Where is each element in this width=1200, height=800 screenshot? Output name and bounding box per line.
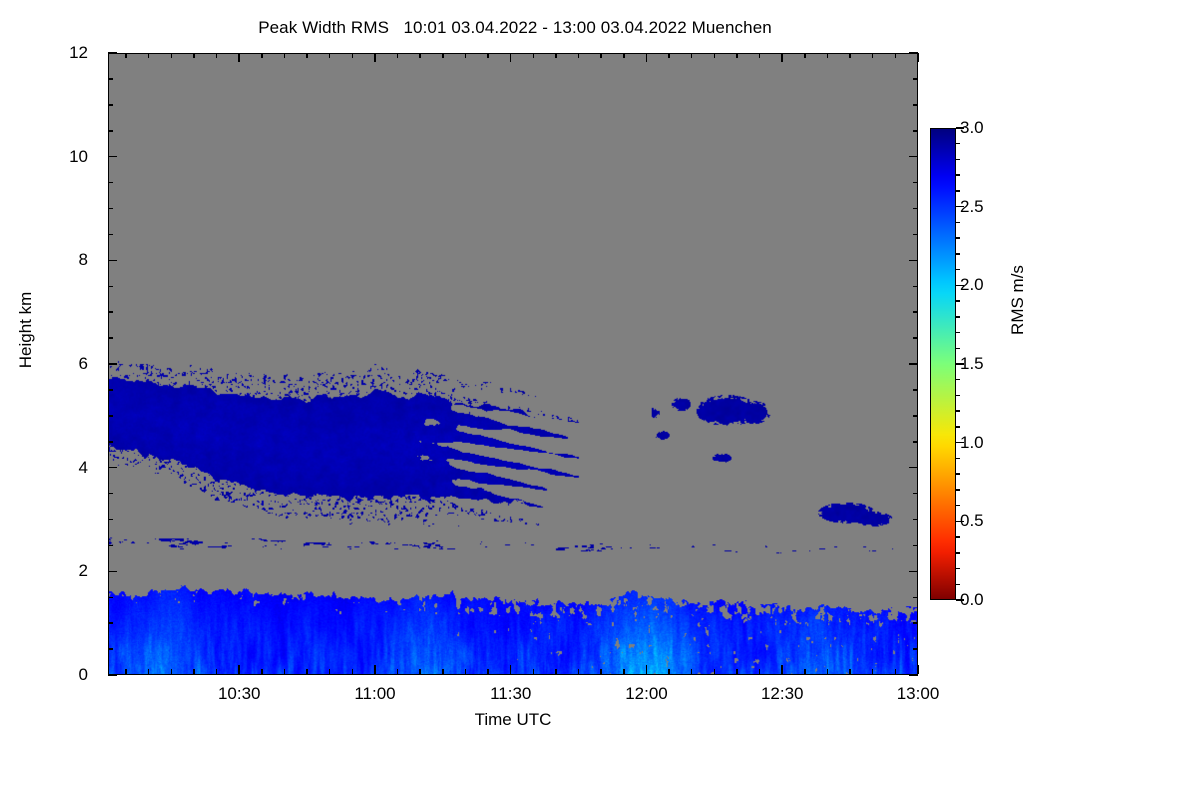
heatmap-canvas — [109, 54, 917, 674]
y-axis-tick-label: 0 — [79, 665, 88, 685]
x-axis-bottom-minor-tick — [736, 669, 738, 674]
colorbar-tick-label: 2.0 — [960, 275, 984, 295]
x-axis-top-minor-tick — [600, 53, 602, 58]
y-axis-right-minor-tick — [913, 130, 918, 132]
y-axis-right-minor-tick — [913, 182, 918, 184]
x-axis-top-major-tick — [781, 53, 783, 62]
y-axis-left-minor-tick — [108, 545, 113, 547]
x-axis-bottom-minor-tick — [533, 669, 535, 674]
x-axis-bottom-minor-tick — [465, 669, 467, 674]
plot-area — [108, 53, 918, 675]
y-axis-left-minor-tick — [108, 208, 113, 210]
y-axis-left-minor-tick — [108, 104, 113, 106]
y-axis-right-minor-tick — [913, 493, 918, 495]
y-axis-right-minor-tick — [913, 545, 918, 547]
y-axis-ticks-right — [917, 53, 918, 675]
x-axis-top-minor-tick — [465, 53, 467, 58]
x-axis-top-minor-tick — [668, 53, 670, 58]
x-axis-tick-label: 11:30 — [490, 684, 531, 704]
x-axis-bottom-minor-tick — [827, 669, 829, 674]
x-axis-top-major-tick — [238, 53, 240, 62]
x-axis-top-major-tick — [646, 53, 648, 62]
y-axis-right-major-tick — [909, 363, 918, 365]
x-axis-top-minor-tick — [872, 53, 874, 58]
x-axis-top-minor-tick — [329, 53, 331, 58]
x-axis-top-minor-tick — [578, 53, 580, 58]
y-axis-left-major-tick — [108, 467, 117, 469]
x-axis-bottom-minor-tick — [216, 669, 218, 674]
figure-title: Peak Width RMS 10:01 03.04.2022 - 13:00 … — [0, 18, 1030, 38]
x-axis-bottom-minor-tick — [804, 669, 806, 674]
x-axis-top-minor-tick — [736, 53, 738, 58]
x-axis-top-major-tick — [510, 53, 512, 62]
x-axis-top-minor-tick — [849, 53, 851, 58]
x-axis-top-minor-tick — [284, 53, 286, 58]
y-axis-left-minor-tick — [108, 597, 113, 599]
x-axis-bottom-minor-tick — [714, 669, 716, 674]
x-axis-bottom-minor-tick — [125, 669, 127, 674]
x-axis-bottom-minor-tick — [691, 669, 693, 674]
x-axis-top-minor-tick — [397, 53, 399, 58]
colorbar-tick-label: 1.5 — [960, 354, 984, 374]
colorbar-gradient — [930, 128, 956, 600]
y-axis-tick-label: 6 — [79, 354, 88, 374]
x-axis-bottom-minor-tick — [306, 669, 308, 674]
colorbar-tick-label: 0.5 — [960, 511, 984, 531]
x-axis-top-minor-tick — [555, 53, 557, 58]
x-axis-bottom-minor-tick — [759, 669, 761, 674]
colorbar — [930, 128, 956, 600]
y-axis-left-major-tick — [108, 156, 117, 158]
x-axis-bottom-minor-tick — [261, 669, 263, 674]
x-axis-bottom-major-tick — [646, 665, 648, 674]
x-axis-tick-label: 12:00 — [625, 684, 668, 704]
y-axis-right-minor-tick — [913, 78, 918, 80]
y-axis-left-major-tick — [108, 363, 117, 365]
colorbar-tick-label: 0.0 — [960, 590, 984, 610]
x-axis-bottom-minor-tick — [487, 669, 489, 674]
y-axis-left-minor-tick — [108, 234, 113, 236]
y-axis-left-minor-tick — [108, 130, 113, 132]
x-axis-tick-labels: 10:3011:0011:3012:0012:3013:00 — [108, 684, 918, 710]
y-axis-right-major-tick — [909, 467, 918, 469]
y-axis-left-minor-tick — [108, 441, 113, 443]
x-axis-top-minor-tick — [759, 53, 761, 58]
x-axis-bottom-major-tick — [374, 665, 376, 674]
x-axis-ticks-bottom — [108, 674, 918, 675]
x-axis-bottom-minor-tick — [329, 669, 331, 674]
x-axis-bottom-minor-tick — [895, 669, 897, 674]
x-axis-bottom-minor-tick — [148, 669, 150, 674]
y-axis-right-major-tick — [909, 260, 918, 262]
x-axis-bottom-minor-tick — [352, 669, 354, 674]
x-axis-top-minor-tick — [261, 53, 263, 58]
y-axis-left-minor-tick — [108, 337, 113, 339]
x-axis-top-minor-tick — [691, 53, 693, 58]
x-axis-title: Time UTC — [108, 710, 918, 730]
x-axis-bottom-major-tick — [917, 665, 919, 674]
x-axis-top-minor-tick — [148, 53, 150, 58]
x-axis-bottom-minor-tick — [284, 669, 286, 674]
y-axis-right-minor-tick — [913, 389, 918, 391]
x-axis-top-minor-tick — [895, 53, 897, 58]
y-axis-tick-label: 4 — [79, 458, 88, 478]
x-axis-top-minor-tick — [533, 53, 535, 58]
y-axis-left-minor-tick — [108, 286, 113, 288]
y-axis-left-minor-tick — [108, 78, 113, 80]
y-axis-left-minor-tick — [108, 415, 113, 417]
x-axis-bottom-minor-tick — [872, 669, 874, 674]
x-axis-bottom-minor-tick — [668, 669, 670, 674]
x-axis-bottom-minor-tick — [555, 669, 557, 674]
x-axis-bottom-minor-tick — [600, 669, 602, 674]
y-axis-right-minor-tick — [913, 311, 918, 313]
y-axis-right-major-tick — [909, 571, 918, 573]
x-axis-top-minor-tick — [827, 53, 829, 58]
x-axis-top-minor-tick — [125, 53, 127, 58]
x-axis-top-minor-tick — [216, 53, 218, 58]
x-axis-top-minor-tick — [714, 53, 716, 58]
x-axis-bottom-major-tick — [238, 665, 240, 674]
x-axis-top-minor-tick — [442, 53, 444, 58]
y-axis-tick-label: 8 — [79, 250, 88, 270]
y-axis-right-minor-tick — [913, 208, 918, 210]
y-axis-left-minor-tick — [108, 648, 113, 650]
x-axis-top-minor-tick — [419, 53, 421, 58]
x-axis-bottom-minor-tick — [397, 669, 399, 674]
y-axis-right-minor-tick — [913, 597, 918, 599]
x-axis-top-minor-tick — [623, 53, 625, 58]
x-axis-tick-label: 11:00 — [354, 684, 395, 704]
x-axis-tick-label: 13:00 — [897, 684, 940, 704]
x-axis-bottom-minor-tick — [849, 669, 851, 674]
y-axis-ticks-left — [108, 53, 109, 675]
figure-root: Peak Width RMS 10:01 03.04.2022 - 13:00 … — [0, 0, 1200, 800]
x-axis-top-major-tick — [374, 53, 376, 62]
x-axis-bottom-minor-tick — [193, 669, 195, 674]
y-axis-right-minor-tick — [913, 648, 918, 650]
x-axis-top-minor-tick — [352, 53, 354, 58]
x-axis-bottom-minor-tick — [623, 669, 625, 674]
colorbar-tick-label: 3.0 — [960, 118, 984, 138]
y-axis-left-minor-tick — [108, 389, 113, 391]
y-axis-right-major-tick — [909, 156, 918, 158]
y-axis-right-minor-tick — [913, 337, 918, 339]
x-axis-top-minor-tick — [306, 53, 308, 58]
y-axis-left-minor-tick — [108, 519, 113, 521]
y-axis-tick-label: 10 — [69, 147, 88, 167]
y-axis-right-minor-tick — [913, 104, 918, 106]
x-axis-top-minor-tick — [487, 53, 489, 58]
y-axis-right-minor-tick — [913, 415, 918, 417]
x-axis-top-minor-tick — [804, 53, 806, 58]
y-axis-left-major-tick — [108, 260, 117, 262]
x-axis-bottom-major-tick — [510, 665, 512, 674]
y-axis-tick-label: 12 — [69, 43, 88, 63]
y-axis-left-minor-tick — [108, 493, 113, 495]
y-axis-title: Height km — [16, 260, 36, 400]
x-axis-bottom-minor-tick — [171, 669, 173, 674]
x-axis-top-minor-tick — [171, 53, 173, 58]
y-axis-right-minor-tick — [913, 234, 918, 236]
colorbar-tick-label: 2.5 — [960, 197, 984, 217]
y-axis-right-minor-tick — [913, 622, 918, 624]
x-axis-bottom-major-tick — [781, 665, 783, 674]
x-axis-ticks-top — [108, 53, 918, 54]
y-axis-left-minor-tick — [108, 622, 113, 624]
y-axis-left-major-tick — [108, 571, 117, 573]
y-axis-tick-label: 2 — [79, 561, 88, 581]
x-axis-bottom-minor-tick — [578, 669, 580, 674]
x-axis-tick-label: 10:30 — [218, 684, 261, 704]
colorbar-tick-label: 1.0 — [960, 433, 984, 453]
y-axis-left-minor-tick — [108, 182, 113, 184]
colorbar-title: RMS m/s — [1008, 220, 1028, 380]
x-axis-bottom-minor-tick — [419, 669, 421, 674]
y-axis-right-minor-tick — [913, 519, 918, 521]
y-axis-left-minor-tick — [108, 311, 113, 313]
x-axis-top-major-tick — [917, 53, 919, 62]
x-axis-bottom-minor-tick — [442, 669, 444, 674]
y-axis-right-minor-tick — [913, 441, 918, 443]
x-axis-top-minor-tick — [193, 53, 195, 58]
y-axis-right-minor-tick — [913, 286, 918, 288]
y-axis-tick-labels: 024681012 — [0, 53, 98, 675]
x-axis-tick-label: 12:30 — [761, 684, 804, 704]
